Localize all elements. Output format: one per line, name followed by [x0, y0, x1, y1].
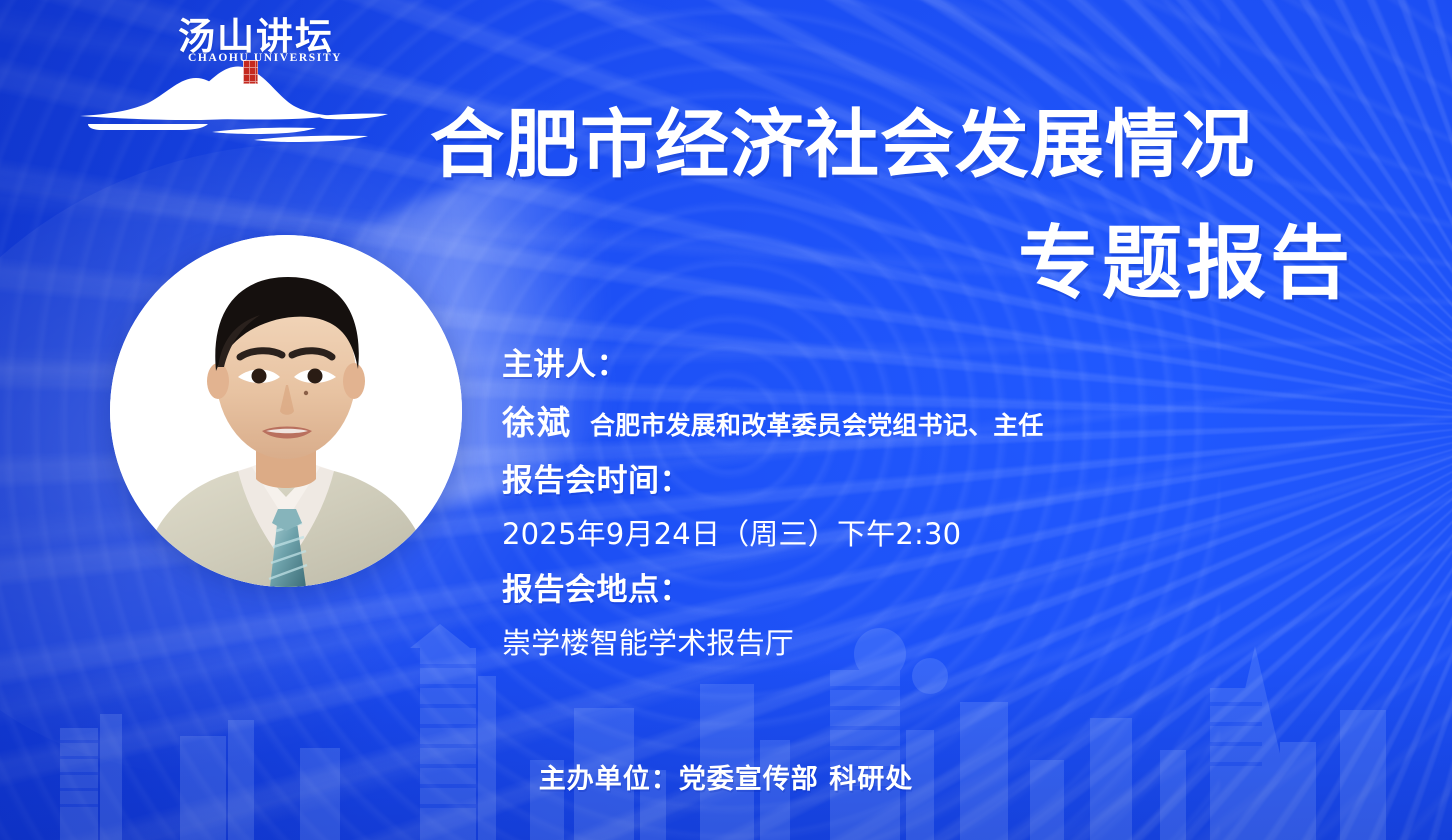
organizers-text: 主办单位：党委宣传部 科研处	[539, 757, 913, 796]
speaker-row: 徐斌 合肥市发展和改革委员会党组书记、主任	[502, 396, 1382, 444]
event-poster: 汤山讲坛 CHAOHU UNIVERSITY 合肥市经济社会发展情况 专题报告	[0, 0, 1452, 840]
time-label: 报告会时间：	[502, 464, 1382, 500]
title-line-2: 专题报告	[430, 224, 1360, 304]
title-line-1: 合肥市经济社会发展情况	[430, 108, 1360, 182]
speaker-label: 主讲人：	[502, 348, 1382, 384]
logo-brand-en: CHAOHU UNIVERSITY	[188, 52, 342, 64]
organizers-footer: 主办单位：党委宣传部 科研处	[0, 757, 1452, 796]
poster-title: 合肥市经济社会发展情况 专题报告	[430, 108, 1360, 304]
venue-value: 崇学楼智能学术报告厅	[502, 620, 1382, 662]
venue-label: 报告会地点：	[502, 573, 1382, 609]
event-details: 主讲人： 徐斌 合肥市发展和改革委员会党组书记、主任 报告会时间： 2025年9…	[502, 348, 1382, 662]
time-value: 2025年9月24日（周三）下午2:30	[502, 511, 1382, 553]
speaker-name: 徐斌	[502, 396, 572, 444]
speaker-position: 合肥市发展和改革委员会党组书记、主任	[590, 406, 1044, 442]
chaohu-university-logo	[72, 52, 412, 148]
speaker-portrait	[110, 235, 462, 587]
